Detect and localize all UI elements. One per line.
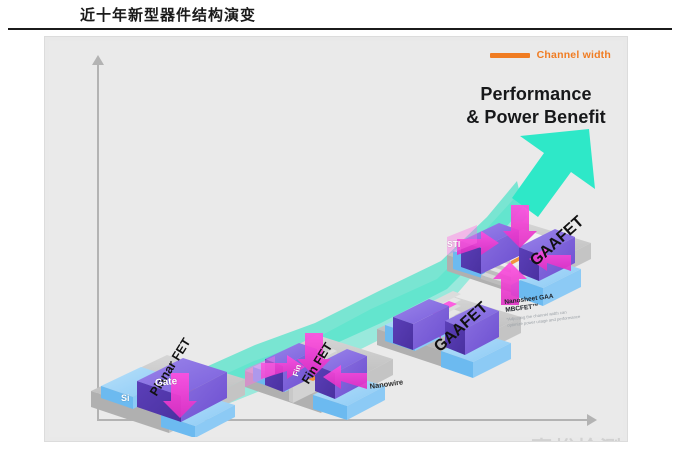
chip-label-si: Si <box>121 393 130 403</box>
growth-arrow-icon <box>512 129 595 217</box>
figure-panel: Channel width Performance & Power Benefi… <box>44 36 628 442</box>
chip-label-gate: Gate <box>155 376 178 389</box>
chip-label-sti: STI <box>447 239 460 249</box>
slide-header: 近十年新型器件结构演变 <box>0 0 680 30</box>
device-evolution-illustration <box>49 41 623 437</box>
page-title: 近十年新型器件结构演变 <box>80 4 256 25</box>
figure-canvas: Channel width Performance & Power Benefi… <box>49 41 623 437</box>
header-divider <box>8 28 672 30</box>
